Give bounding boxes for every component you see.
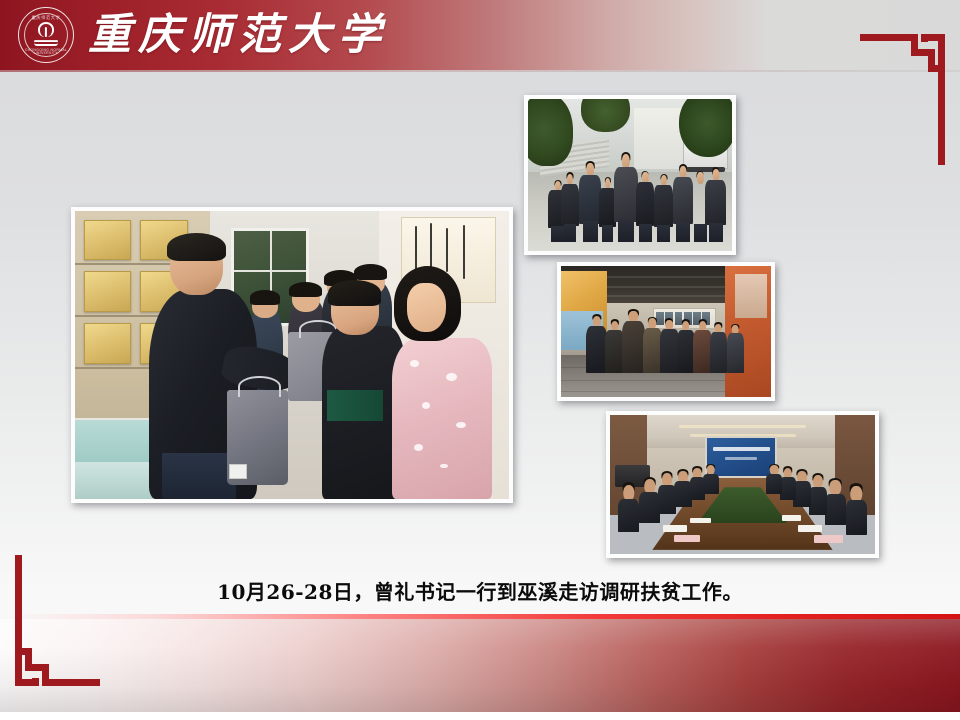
seal-arc-top-text: 重庆师范大学 [19,16,73,20]
corner-ornament-bottom-left [8,550,100,710]
seal-flame-shape [38,22,54,37]
header-underline [0,70,960,72]
corner-ornament-top-right [860,10,952,170]
slide-footer-band [0,619,960,712]
slide-bottom-edge [0,712,960,720]
photo-conference-meeting [606,411,879,558]
footer-highlight-line [0,614,960,619]
slide-caption: 10月26-28日，曾礼书记一行到巫溪走访调研扶贫工作。 [0,576,960,605]
seal-book-flame-icon [33,22,59,46]
photo-delegation-walking [524,95,736,255]
university-seal-icon: 重庆师范大学 CHONGQING NORMAL UNIVERSITY [18,7,74,63]
photo-exhibition-visit [557,262,775,401]
seal-book-shape [34,39,58,46]
photo-donation-to-students [71,207,513,503]
university-name-title: 重庆师范大学 [88,6,388,64]
seal-arc-bottom-text: CHONGQING NORMAL UNIVERSITY [19,49,73,56]
presentation-slide: 重庆师范大学 CHONGQING NORMAL UNIVERSITY 重庆师范大… [0,0,960,720]
